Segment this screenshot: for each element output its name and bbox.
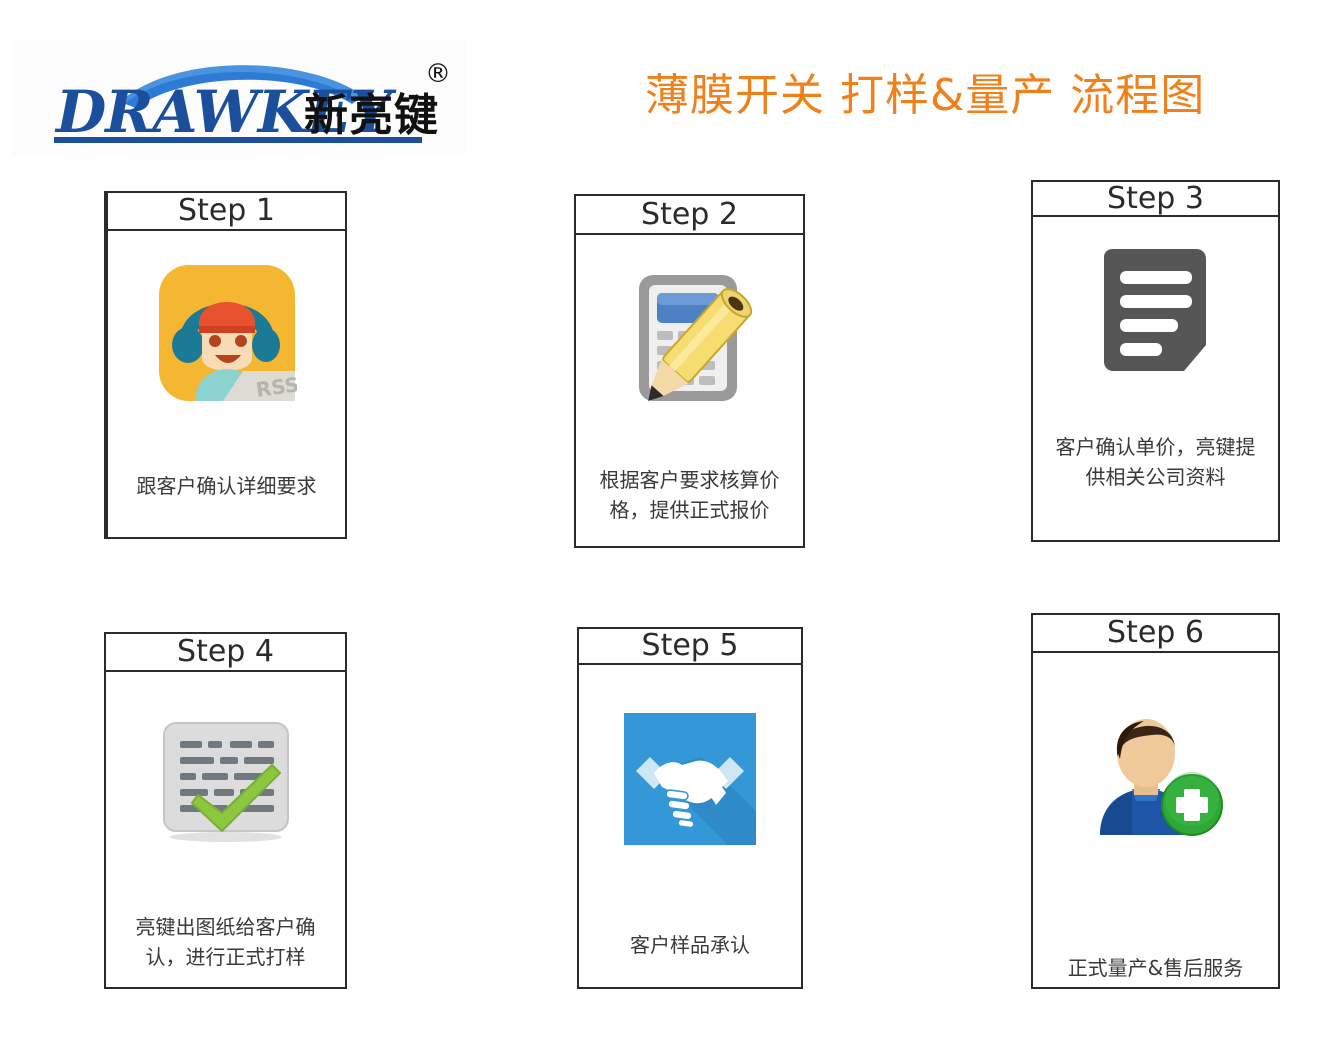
step-card-6-body: 正式量产&售后服务 [1031,653,1280,989]
handshake-icon [579,713,801,845]
step-card-1-header: Step 1 [104,191,347,231]
customer-service-agent-icon: RSS [108,263,345,403]
step-card-6-label: Step 6 [1107,618,1204,648]
step-card-1-label: Step 1 [178,196,275,226]
step-card-4-body: 亮键出图纸给客户确认，进行正式打样 [104,672,347,989]
step-card-6-caption: 正式量产&售后服务 [1033,953,1278,983]
page-header: DRAWKEY 新亮键 ® 薄膜开关 打样&量产 流程图 [0,0,1332,175]
step-card-4-label: Step 4 [177,637,274,667]
step-card-1[interactable]: Step 1 [104,191,347,539]
registered-trademark-icon: ® [425,59,451,89]
step-card-3[interactable]: Step 3 客户确认单价，亮键提供相关公司资料 [1031,180,1280,542]
step-card-3-label: Step 3 [1107,184,1204,214]
step-card-6-header: Step 6 [1031,613,1280,653]
step-card-5-label: Step 5 [642,631,739,661]
step-card-5-body: 客户样品承认 [577,665,803,989]
step-card-3-caption: 客户确认单价，亮键提供相关公司资料 [1033,432,1278,492]
logo-cjk-name: 新亮键 [304,90,439,141]
step-card-1-body: RSS 跟客户确认详细要求 [104,231,347,539]
step-card-6[interactable]: Step 6 正式量产&售后服务 [1031,613,1280,989]
document-icon [1033,247,1278,387]
calculator-with-pencil-icon [576,263,803,413]
step-card-2[interactable]: Step 2 [574,194,805,548]
step-card-5[interactable]: Step 5 [577,627,803,989]
step-card-2-header: Step 2 [574,194,805,235]
step-card-3-header: Step 3 [1031,180,1280,217]
step-card-5-caption: 客户样品承认 [579,930,801,960]
step-card-4-header: Step 4 [104,632,347,672]
step-card-4[interactable]: Step 4 [104,632,347,989]
step-card-1-caption: 跟客户确认详细要求 [108,471,345,501]
add-user-icon [1033,705,1278,837]
step-card-2-label: Step 2 [641,200,738,230]
step-card-5-header: Step 5 [577,627,803,665]
page-title: 薄膜开关 打样&量产 流程图 [645,70,1205,122]
step-card-2-caption: 根据客户要求核算价格，提供正式报价 [576,465,803,525]
step-card-2-body: 根据客户要求核算价格，提供正式报价 [574,235,805,548]
document-approved-check-icon [106,712,345,852]
company-logo: DRAWKEY 新亮键 ® [12,40,467,155]
logo-artwork: DRAWKEY 新亮键 ® [12,40,467,155]
step-card-3-body: 客户确认单价，亮键提供相关公司资料 [1031,217,1280,542]
step-card-4-caption: 亮键出图纸给客户确认，进行正式打样 [106,912,345,972]
